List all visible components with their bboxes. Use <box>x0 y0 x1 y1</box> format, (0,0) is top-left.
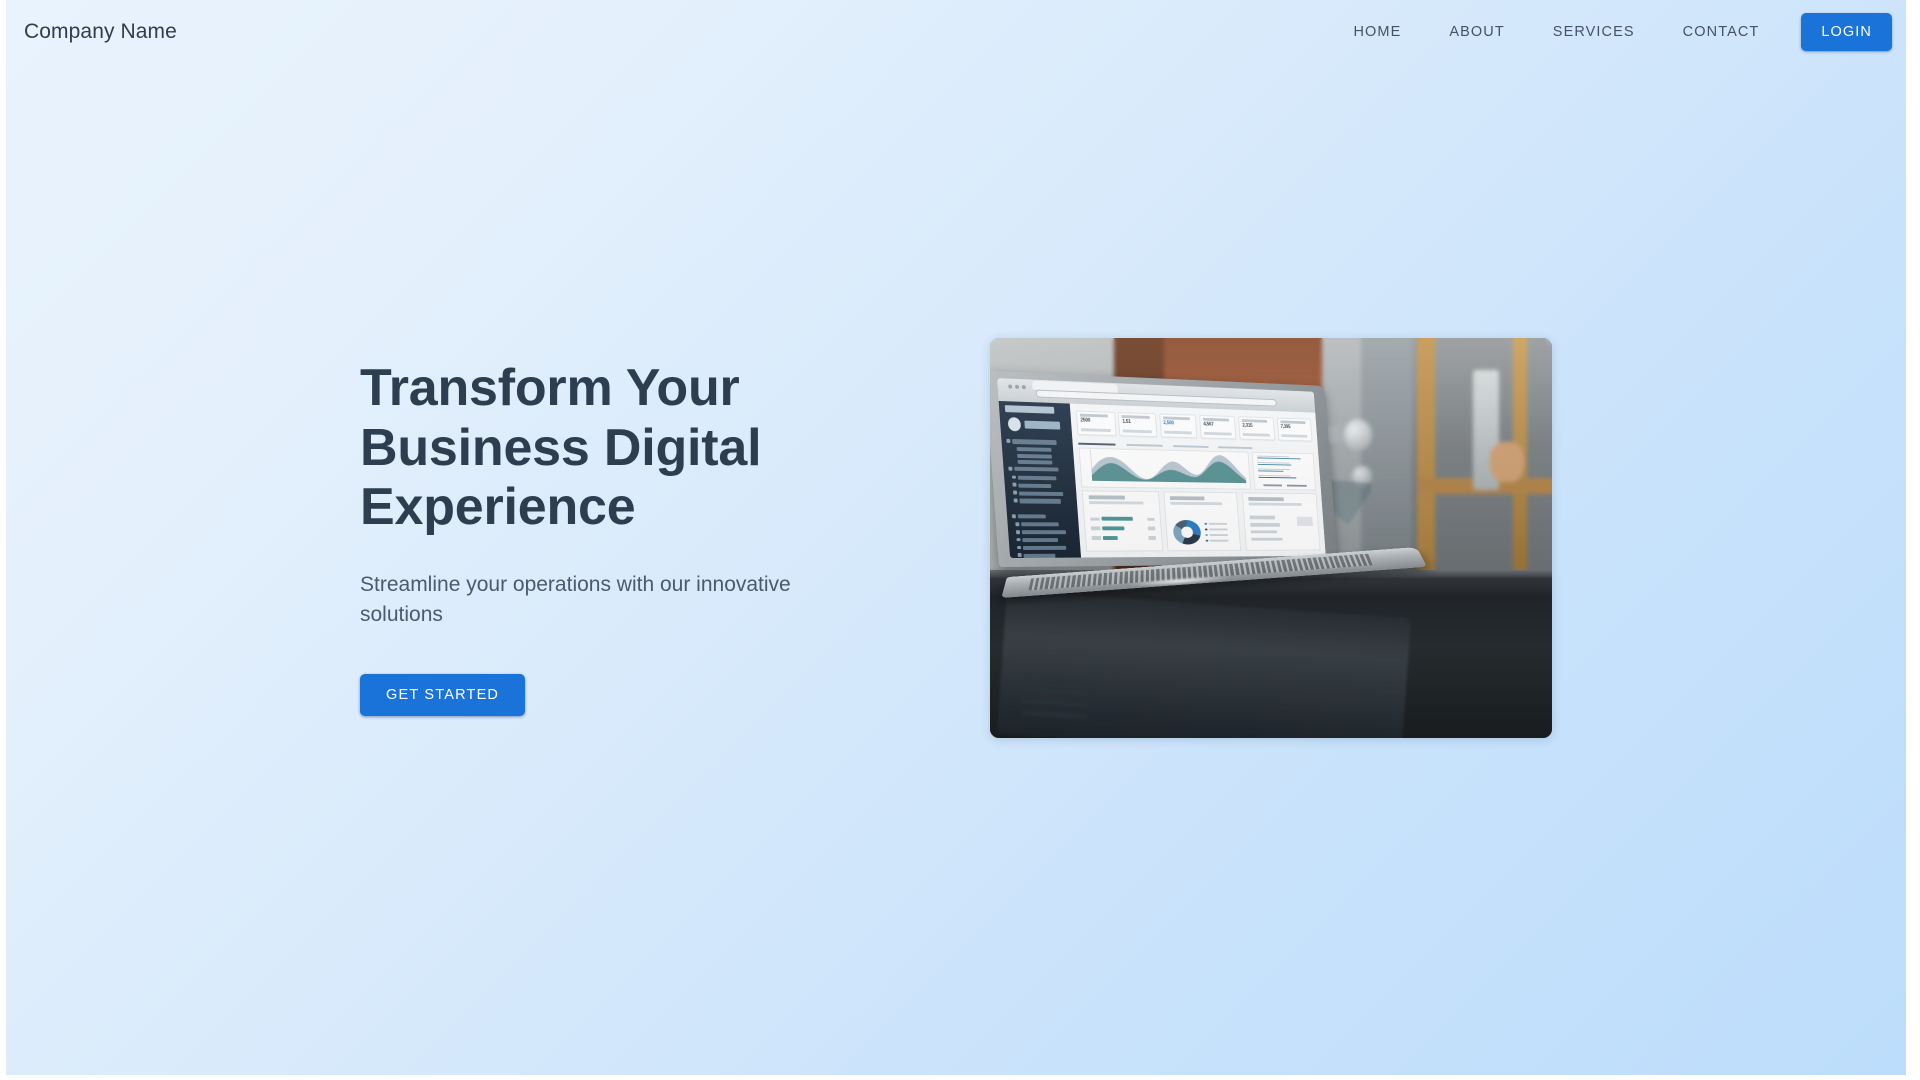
bar <box>1102 517 1134 521</box>
hero-section: Transform Your Business Digital Experien… <box>6 0 1906 1075</box>
area-chart-plot <box>1090 449 1246 482</box>
panel-subtitle <box>1089 501 1143 504</box>
legend-row <box>1259 475 1311 478</box>
dashboard-tab <box>1218 446 1252 449</box>
sidebar-item <box>1023 537 1059 541</box>
kpi-card: 2500 <box>1076 410 1116 436</box>
sidebar-icon <box>1012 475 1016 479</box>
sidebar-item <box>1017 447 1052 452</box>
kpi-subtext <box>1164 430 1192 433</box>
bar-label <box>1091 526 1101 529</box>
dashboard-panel-accounts <box>1242 492 1321 551</box>
dashboard-panel-active-users <box>1082 490 1163 551</box>
legend-label <box>1259 475 1291 477</box>
sidebar-item <box>1020 498 1062 502</box>
dashboard-area-chart <box>1079 447 1251 489</box>
sidebar-item <box>1019 491 1063 496</box>
window-dot-icon <box>1015 384 1019 388</box>
sidebar-item <box>1022 522 1059 526</box>
hero-headline: Transform Your Business Digital Experien… <box>360 359 860 538</box>
sidebar-icon <box>1009 466 1013 470</box>
panel-subtitle <box>1249 502 1302 505</box>
sidebar-item <box>1017 514 1046 518</box>
panel-title <box>1248 497 1284 501</box>
bar-value <box>1147 517 1155 520</box>
list-item <box>1251 530 1278 533</box>
window-dot-icon <box>1008 384 1012 388</box>
sidebar-item <box>1024 553 1056 557</box>
kpi-caption <box>1280 420 1305 424</box>
sidebar-icon <box>1018 553 1022 557</box>
kpi-card: 1.51 <box>1118 411 1157 436</box>
sidebar-item <box>1012 439 1057 444</box>
kpi-subtext <box>1204 432 1232 435</box>
kpi-value: 7,395 <box>1281 424 1291 429</box>
laptop-lid: 2500 1.51 <box>990 370 1338 567</box>
legend-row <box>1258 462 1310 466</box>
hero-image-laptop-dashboard: 2500 1.51 <box>990 338 1552 738</box>
kpi-card: 2,500 <box>1159 413 1198 438</box>
window-dot-icon <box>1022 385 1026 389</box>
area-chart-svg <box>1090 449 1246 482</box>
donut-legend-label <box>1209 522 1228 524</box>
kpi-card: 2,315 <box>1238 416 1275 440</box>
list-item <box>1250 515 1275 518</box>
kpi-subtext <box>1243 433 1270 436</box>
donut-legend-label <box>1210 533 1229 535</box>
kpi-value: 2,500 <box>1163 420 1174 425</box>
sidebar-item <box>1022 530 1066 534</box>
donut-legend-swatch <box>1205 522 1208 524</box>
browser-window-dots <box>1008 384 1026 389</box>
kpi-caption <box>1122 415 1150 419</box>
donut-chart <box>1173 519 1202 543</box>
list-item <box>1250 523 1280 526</box>
dashboard-username <box>1024 420 1060 429</box>
legend-label <box>1258 468 1290 470</box>
sidebar-icon <box>1018 545 1022 549</box>
kpi-card: 4,567 <box>1199 414 1237 439</box>
kpi-value: 4,567 <box>1203 422 1214 427</box>
bar-value <box>1149 536 1157 539</box>
legend-label <box>1257 455 1289 457</box>
photo-scene: 2500 1.51 <box>990 338 1552 738</box>
sidebar-icon <box>1016 522 1020 526</box>
panel-action-button <box>1297 517 1313 526</box>
dashboard-main: 2500 1.51 <box>1070 404 1325 558</box>
bar-label <box>1090 517 1100 520</box>
sidebar-item <box>1017 453 1052 458</box>
sidebar-item <box>1014 466 1059 471</box>
kpi-subtext <box>1081 428 1111 431</box>
dashboard-tab <box>1078 442 1115 445</box>
bar-label <box>1092 536 1102 539</box>
legend-toggle-high <box>1287 484 1307 486</box>
dashboard-legend-panel <box>1252 451 1316 490</box>
dashboard-sidebar <box>999 401 1082 558</box>
avatar <box>1007 417 1021 431</box>
sidebar-item <box>1019 483 1052 487</box>
page-root: Company Name HOME ABOUT SERVICES CONTACT… <box>6 0 1906 1075</box>
sidebar-icon <box>1016 529 1020 533</box>
laptop: 2500 1.51 <box>990 339 1427 594</box>
sidebar-item <box>1023 545 1066 549</box>
sidebar-icon <box>1007 439 1011 443</box>
sidebar-icon <box>1017 537 1021 541</box>
sidebar-item <box>1018 475 1057 480</box>
kpi-card: 7,395 <box>1277 417 1313 441</box>
sidebar-icon <box>1012 514 1016 518</box>
sidebar-icon <box>1013 483 1017 487</box>
panel-title <box>1089 495 1126 499</box>
kpi-caption <box>1080 413 1108 417</box>
sidebar-icon <box>1014 490 1018 494</box>
panel-title <box>1170 496 1205 500</box>
legend-bar <box>1259 477 1296 478</box>
hero-subheadline: Streamline your operations with our inno… <box>360 570 810 630</box>
kpi-subtext <box>1281 434 1307 437</box>
panel-subtitle <box>1171 502 1223 505</box>
dashboard: 2500 1.51 <box>999 401 1326 558</box>
dashboard-tab <box>1126 443 1162 446</box>
kpi-value: 1.51 <box>1122 419 1131 424</box>
legend-bar <box>1258 470 1283 471</box>
bar <box>1102 526 1125 530</box>
dashboard-logo <box>1005 405 1054 413</box>
legend-row <box>1257 455 1309 459</box>
donut-legend-swatch <box>1206 539 1209 541</box>
kpi-value: 2,315 <box>1243 423 1253 428</box>
kpi-row: 2500 1.51 <box>1076 410 1313 441</box>
get-started-button[interactable]: GET STARTED <box>360 674 525 716</box>
legend-bar <box>1258 464 1291 465</box>
sidebar-icon <box>1014 498 1018 502</box>
kpi-caption <box>1163 416 1190 420</box>
donut-legend-swatch <box>1205 533 1208 535</box>
hero-copy: Transform Your Business Digital Experien… <box>360 359 860 715</box>
donut-legend-swatch <box>1205 528 1208 530</box>
donut-legend-label <box>1209 528 1228 530</box>
sidebar-item <box>1018 459 1053 464</box>
donut-legend-label <box>1210 539 1229 541</box>
list-item <box>1251 537 1282 540</box>
legend-toggle-low <box>1264 483 1282 485</box>
bar-value <box>1148 526 1156 529</box>
dashboard-panel-engagement <box>1164 491 1242 551</box>
kpi-value: 2500 <box>1081 418 1091 423</box>
legend-row <box>1258 468 1310 471</box>
laptop-screen: 2500 1.51 <box>997 377 1325 557</box>
kpi-subtext <box>1123 429 1152 432</box>
dashboard-tab <box>1173 444 1208 447</box>
kpi-caption <box>1203 417 1229 421</box>
legend-bar <box>1258 457 1301 459</box>
legend-label <box>1258 462 1290 464</box>
bar <box>1103 535 1118 539</box>
